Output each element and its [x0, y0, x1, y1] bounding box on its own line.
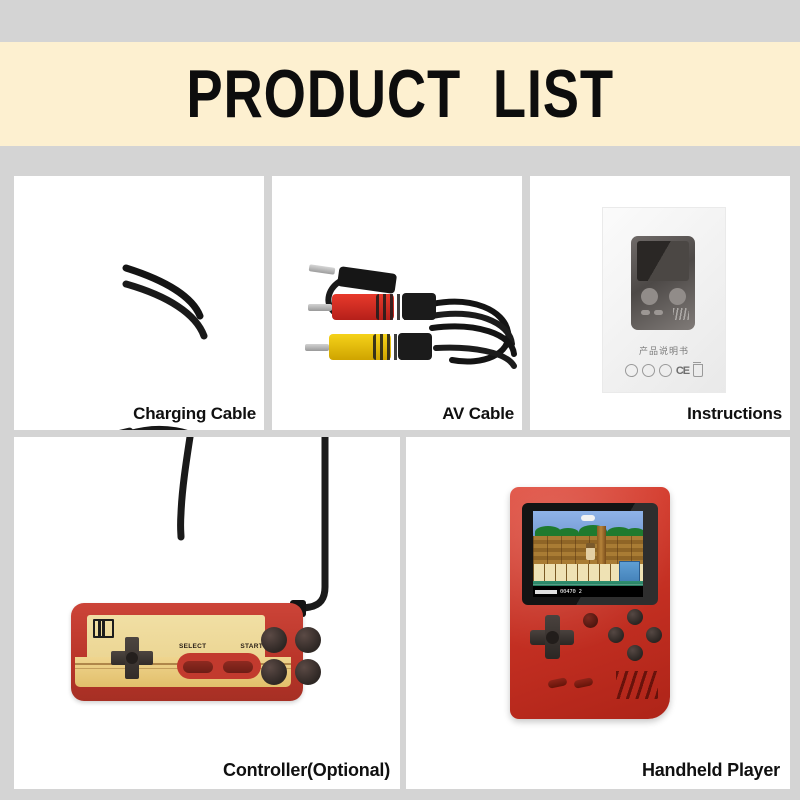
- handheld-speaker-grille: [616, 671, 658, 699]
- hud-lives: 2: [579, 589, 582, 595]
- product-list-page: PRODUCT LIST Charging Cable: [0, 0, 800, 800]
- ce-mark-icon: CE: [676, 365, 689, 377]
- gamepad-select-start-labels: SELECT START: [179, 643, 263, 650]
- card-label-handheld-player: Handheld Player: [642, 760, 780, 781]
- card-label-controller: Controller(Optional): [223, 760, 390, 781]
- recycle-icon: [659, 364, 672, 377]
- manual-action-buttons-icon: [669, 288, 686, 305]
- hud-score: 00470: [560, 589, 576, 595]
- rca-red-pin: [308, 304, 332, 311]
- handheld-action-buttons[interactable]: [608, 609, 664, 663]
- av-cable-illustration: [272, 176, 522, 430]
- instruction-manual-cover: 产品说明书 CE: [603, 208, 725, 392]
- manual-select-start-icon: [641, 310, 665, 316]
- gamepad-select-start-buttons[interactable]: [183, 659, 255, 675]
- manual-speaker-icon: [673, 308, 689, 320]
- rca-yellow-boot: [398, 333, 432, 360]
- card-label-av-cable: AV Cable: [442, 404, 514, 424]
- header-banner: PRODUCT LIST: [0, 42, 800, 146]
- handheld-console-body: 00470 2: [510, 487, 670, 719]
- handheld-select-start-buttons[interactable]: [548, 679, 598, 689]
- handheld-menu-button[interactable]: [583, 613, 598, 628]
- product-card-av-cable[interactable]: AV Cable: [272, 176, 522, 430]
- manual-chinese-title: 产品说明书: [603, 344, 725, 357]
- weee-bin-icon: [693, 364, 703, 377]
- gamepad-dpad[interactable]: [111, 637, 153, 679]
- rca-yellow-pin: [305, 344, 329, 351]
- game-cloud: [581, 515, 595, 521]
- handheld-dpad[interactable]: [530, 615, 574, 659]
- charging-cable-svg: [14, 176, 264, 430]
- rca-red-boot: [402, 293, 436, 320]
- manual-dpad-icon: [641, 288, 658, 305]
- no-fire-icon: [625, 364, 638, 377]
- handheld-player-illustration: 00470 2: [406, 437, 790, 789]
- page-title: PRODUCT LIST: [186, 60, 613, 128]
- start-label: START: [240, 643, 263, 650]
- card-label-instructions: Instructions: [687, 404, 782, 424]
- card-label-charging-cable: Charging Cable: [133, 404, 256, 424]
- product-card-controller[interactable]: SELECT START Controller(Optional): [14, 437, 400, 789]
- game-hud: 00470 2: [533, 586, 643, 597]
- temperature-icon: [642, 364, 655, 377]
- manual-certification-marks: CE: [603, 364, 725, 377]
- charging-cable-illustration: [14, 176, 264, 430]
- product-card-handheld-player[interactable]: 00470 2 Handheld Player: [406, 437, 790, 789]
- product-card-instructions[interactable]: 产品说明书 CE Instructions: [530, 176, 790, 430]
- manual-device-screen: [637, 241, 689, 281]
- hud-health-bar: [535, 590, 557, 594]
- select-label: SELECT: [179, 643, 206, 650]
- controller-illustration: SELECT START: [14, 437, 400, 789]
- instructions-illustration: 产品说明书 CE: [530, 176, 790, 430]
- gamepad-body: SELECT START: [71, 603, 303, 701]
- product-card-charging-cable[interactable]: Charging Cable: [14, 176, 264, 430]
- gamepad-player-two-mark: [93, 619, 114, 638]
- handheld-game-screen: 00470 2: [533, 511, 643, 597]
- gamepad-action-buttons[interactable]: [261, 627, 327, 689]
- game-character: [586, 547, 595, 560]
- manual-device-illustration: [631, 236, 695, 330]
- handheld-screen-bezel: 00470 2: [522, 503, 658, 605]
